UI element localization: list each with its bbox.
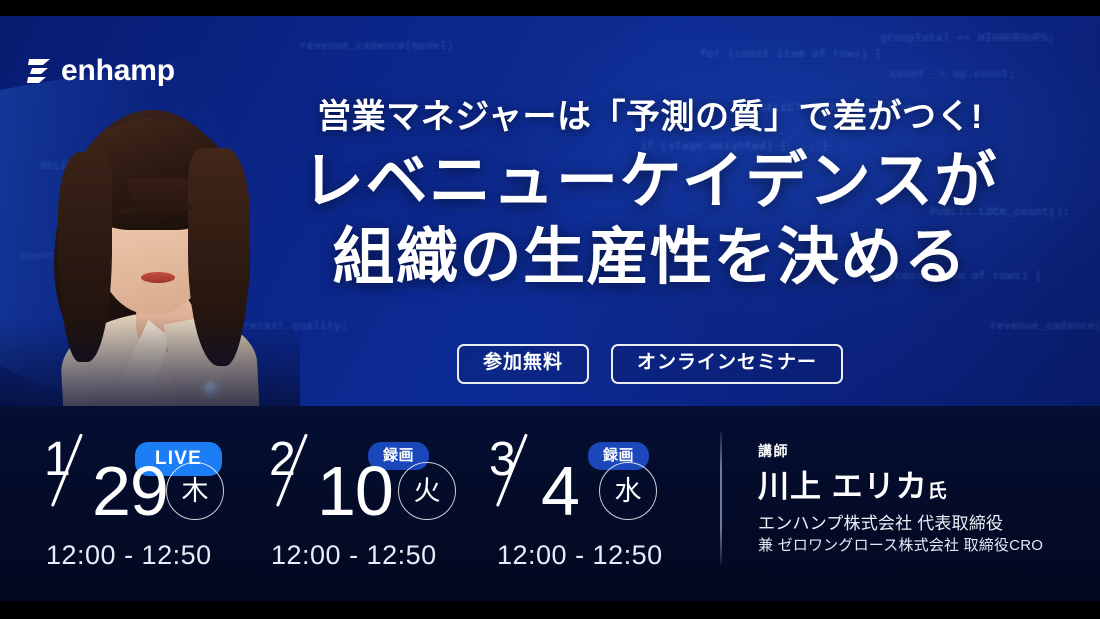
speaker-info: 講師 川上 エリカ氏 エンハンプ株式会社 代表取締役 兼 ゼロワングロース株式会…: [758, 444, 1078, 556]
date-day: 29: [92, 456, 168, 526]
hero-section: for (const item of rows) { groupTotal +=…: [0, 16, 1100, 406]
title-line-2: 組織の生産性を決める: [300, 220, 1000, 296]
date-month: 1: [44, 436, 71, 484]
speaker-name-suffix: 氏: [928, 481, 947, 502]
date-weekday: 火: [398, 462, 456, 520]
letterbox-bottom: [0, 601, 1100, 619]
headline-block: 営業マネジャーは「予測の質」で差がつく! レベニューケイデンスが 組織の生産性を…: [300, 98, 1000, 295]
date-month: 2: [269, 436, 296, 484]
date-month: 3: [489, 436, 516, 484]
sub-headline: 営業マネジャーは「予測の質」で差がつく!: [300, 98, 1000, 136]
date-weekday: 水: [599, 462, 657, 520]
schedule-item[interactable]: 録画 2 10 火 12:00 - 12:50: [265, 418, 480, 593]
title-line-1: レベニューケイデンスが: [300, 144, 1000, 220]
session-time: 12:00 - 12:50: [271, 540, 437, 571]
speaker-role-primary: エンハンプ株式会社 代表取締役: [758, 513, 1078, 534]
date-display: 3 4: [485, 432, 700, 528]
date-weekday: 木: [166, 462, 224, 520]
vertical-divider: [720, 432, 722, 564]
schedule-item[interactable]: LIVE 1 29 木 12:00 - 12:50: [40, 418, 255, 593]
speaker-name-text: 川上 エリカ: [758, 469, 928, 504]
photo-eye-right: [168, 220, 188, 228]
photo-lips: [141, 272, 175, 283]
schedule-list: LIVE 1 29 木 12:00 - 12:50 録画 2 10 火 12:0: [40, 418, 700, 593]
webinar-promo-banner: for (const item of rows) { groupTotal +=…: [0, 0, 1100, 619]
session-time: 12:00 - 12:50: [497, 540, 663, 571]
letterbox-top: [0, 0, 1100, 16]
speaker-name: 川上 エリカ氏: [758, 471, 1078, 502]
photo-eye-left: [120, 222, 140, 230]
session-time: 12:00 - 12:50: [46, 540, 212, 571]
date-day: 10: [317, 456, 393, 526]
speaker-label: 講師: [758, 444, 1078, 458]
tag-pill-group: 参加無料 オンラインセミナー: [300, 344, 1000, 384]
brand-name: enhamp: [61, 56, 175, 86]
date-display: 1 29: [40, 432, 255, 528]
photo-bottom-fade: [0, 316, 300, 406]
schedule-item[interactable]: 録画 3 4 水 12:00 - 12:50: [485, 418, 700, 593]
date-day: 4: [541, 456, 579, 526]
pill-online-seminar: オンラインセミナー: [611, 344, 843, 384]
speaker-role-secondary: 兼 ゼロワングロース株式会社 取締役CRO: [758, 537, 1078, 556]
brand-logo[interactable]: enhamp: [26, 56, 175, 86]
enhamp-stripes-mark-icon: [26, 56, 52, 86]
pill-free-admission: 参加無料: [457, 344, 589, 384]
